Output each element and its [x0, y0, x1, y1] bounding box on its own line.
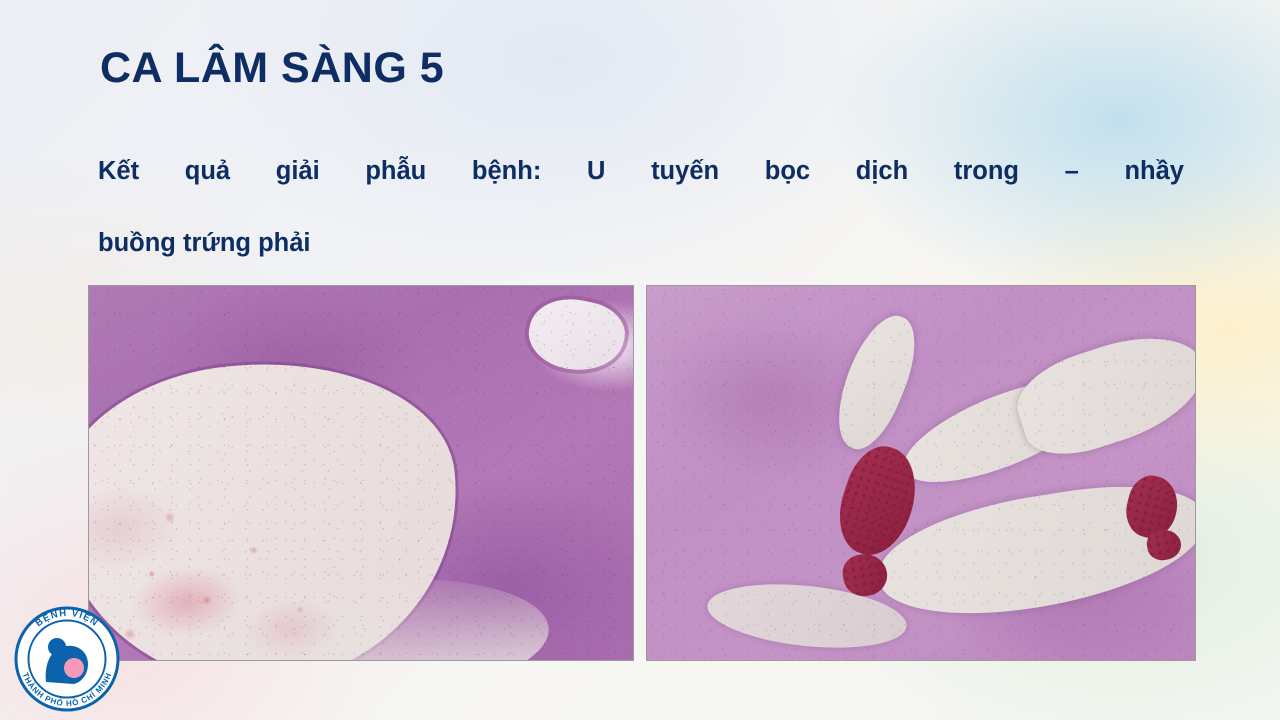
histology-image-left	[88, 285, 634, 661]
nuclei-speckle-texture	[89, 286, 633, 660]
subtitle-line-2: buồng trứng phải	[98, 229, 311, 257]
histology-left-field	[89, 286, 633, 660]
hospital-logo: BỆNH VIỆN THÀNH PHỐ HỒ CHÍ MINH	[8, 600, 126, 718]
page-title: CA LÂM SÀNG 5	[100, 44, 444, 93]
histology-image-right	[646, 285, 1196, 661]
image-row	[88, 285, 1196, 661]
slide-canvas: CA LÂM SÀNG 5 Kết quả giải phẫu bệnh: U …	[0, 0, 1280, 720]
subtitle-line-1: Kết quả giải phẫu bệnh: U tuyến bọc dịch…	[98, 153, 1184, 225]
subtitle-text: Kết quả giải phẫu bệnh: U tuyến bọc dịch…	[98, 153, 1184, 262]
nuclei-speckle-texture	[647, 286, 1195, 660]
histology-right-field	[647, 286, 1195, 660]
